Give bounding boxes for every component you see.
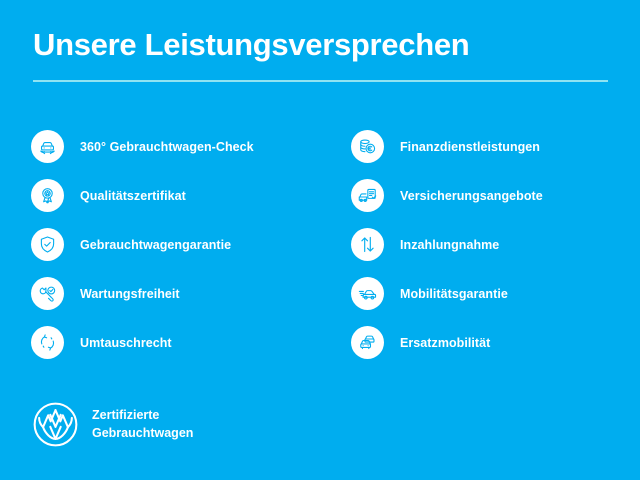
volkswagen-logo-icon xyxy=(32,401,79,448)
benefit-item-ersatzmobilitaet[interactable]: Ersatzmobilität xyxy=(351,318,640,367)
benefit-item-mobilitaetsgarantie[interactable]: Mobilitätsgarantie xyxy=(351,269,640,318)
coins-euro-icon xyxy=(351,130,384,163)
brand-text-line1: Zertifizierte xyxy=(92,408,159,422)
benefit-item-qualitaetszertifikat[interactable]: Qualitätszertifikat xyxy=(31,171,325,220)
benefits-columns: 360° Gebrauchtwagen-Check Qualitätszerti… xyxy=(0,122,640,367)
benefit-label: Umtauschrecht xyxy=(80,336,172,350)
benefit-item-wartungsfreiheit[interactable]: Wartungsfreiheit xyxy=(31,269,325,318)
benefit-label: Versicherungsangebote xyxy=(400,189,543,203)
benefits-slide: Unsere Leistungsversprechen xyxy=(0,0,640,480)
car-360-check-icon xyxy=(31,130,64,163)
benefit-item-versicherungsangebote[interactable]: Versicherungsangebote xyxy=(351,171,640,220)
wrench-check-icon xyxy=(31,277,64,310)
award-rosette-icon xyxy=(31,179,64,212)
benefits-column-left: 360° Gebrauchtwagen-Check Qualitätszerti… xyxy=(0,122,325,367)
benefit-label: Ersatzmobilität xyxy=(400,336,490,350)
benefit-label: Gebrauchtwagengarantie xyxy=(80,238,231,252)
benefits-column-right: Finanzdienstleistungen xyxy=(325,122,640,367)
benefit-label: Mobilitätsgarantie xyxy=(400,287,508,301)
benefit-item-gebrauchtwagengarantie[interactable]: Gebrauchtwagengarantie xyxy=(31,220,325,269)
exchange-arrows-icon xyxy=(31,326,64,359)
benefit-label: Inzahlungnahme xyxy=(400,238,499,252)
benefit-label: Finanzdienstleistungen xyxy=(400,140,540,154)
car-speed-icon xyxy=(351,277,384,310)
page-title: Unsere Leistungsversprechen xyxy=(33,28,608,63)
arrows-up-down-icon xyxy=(351,228,384,261)
benefit-item-umtauschrecht[interactable]: Umtauschrecht xyxy=(31,318,325,367)
benefit-label: 360° Gebrauchtwagen-Check xyxy=(80,140,254,154)
benefit-item-360-check[interactable]: 360° Gebrauchtwagen-Check xyxy=(31,122,325,171)
header: Unsere Leistungsversprechen xyxy=(33,28,608,82)
brand-text: Zertifizierte Gebrauchtwagen xyxy=(92,407,193,443)
car-document-check-icon xyxy=(351,179,384,212)
shield-check-icon xyxy=(31,228,64,261)
benefit-label: Qualitätszertifikat xyxy=(80,189,186,203)
brand-lockup: Zertifizierte Gebrauchtwagen xyxy=(32,401,193,448)
benefit-label: Wartungsfreiheit xyxy=(80,287,180,301)
brand-text-line2: Gebrauchtwagen xyxy=(92,426,193,440)
two-cars-icon xyxy=(351,326,384,359)
benefit-item-inzahlungnahme[interactable]: Inzahlungnahme xyxy=(351,220,640,269)
benefit-item-finanzdienstleistungen[interactable]: Finanzdienstleistungen xyxy=(351,122,640,171)
title-divider xyxy=(33,80,608,82)
